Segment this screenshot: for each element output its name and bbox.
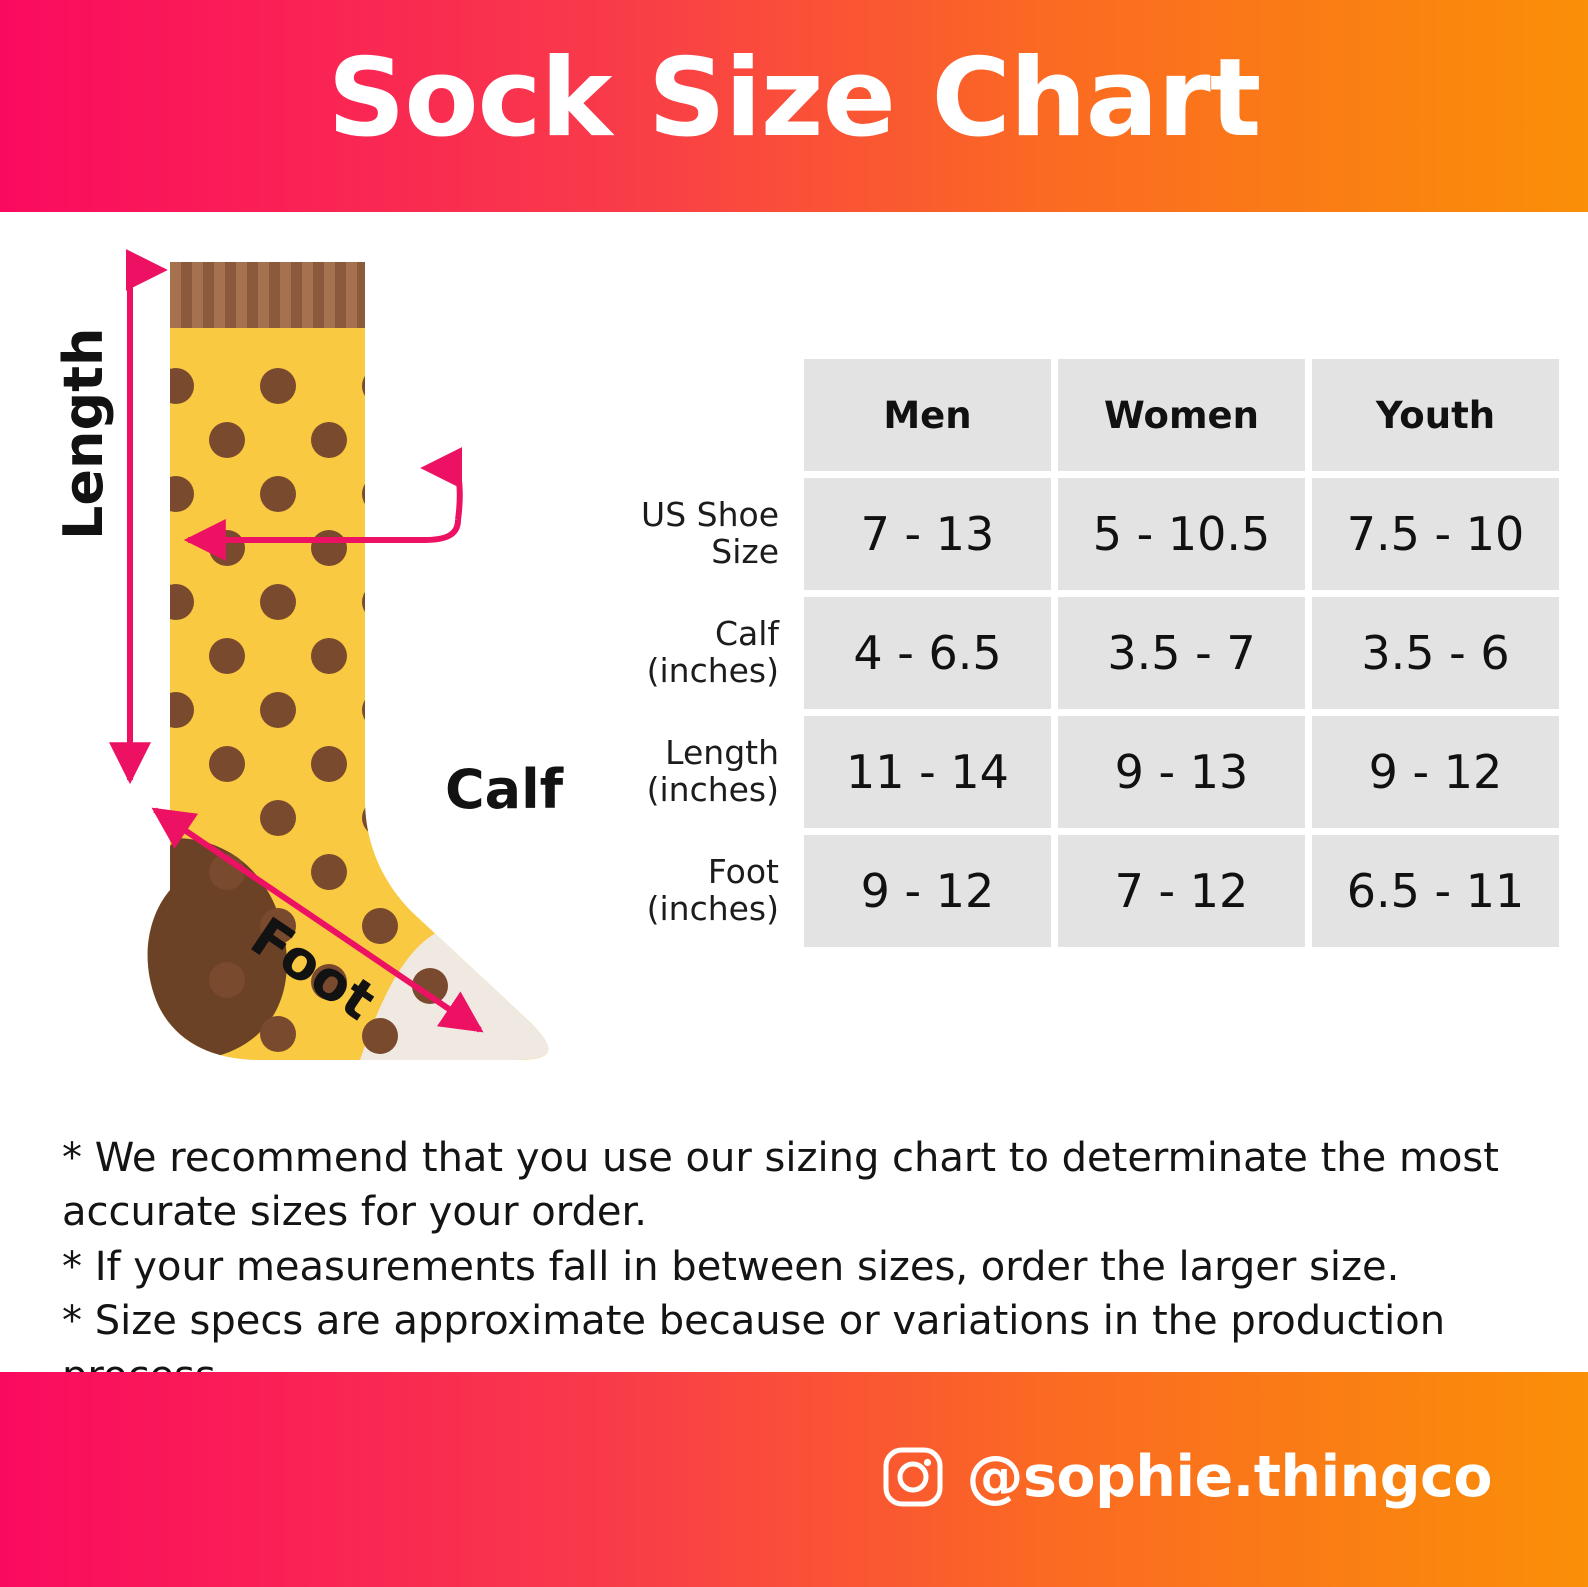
sock-diagram: Length Calf Foot — [60, 240, 620, 1060]
cell-foot-women: 7 - 12 — [1058, 835, 1305, 947]
column-header-youth: Youth — [1312, 359, 1559, 471]
table-corner-cell — [627, 359, 797, 471]
row-header-foot: Foot (inches) — [627, 835, 797, 947]
length-label: Length — [52, 328, 115, 540]
cell-calf-men: 4 - 6.5 — [804, 597, 1051, 709]
cell-calf-women: 3.5 - 7 — [1058, 597, 1305, 709]
sock-size-chart-page: Sock Size Chart — [0, 0, 1588, 1587]
row-header-line2: Size — [627, 534, 779, 571]
table-body: US Shoe Size 7 - 13 5 - 10.5 7.5 - 10 Ca… — [627, 478, 1559, 947]
page-title: Sock Size Chart — [0, 34, 1588, 164]
cell-us-shoe-size-youth: 7.5 - 10 — [1312, 478, 1559, 590]
cell-length-women: 9 - 13 — [1058, 716, 1305, 828]
table-row: US Shoe Size 7 - 13 5 - 10.5 7.5 - 10 — [627, 478, 1559, 590]
cell-foot-men: 9 - 12 — [804, 835, 1051, 947]
row-header-line2: (inches) — [627, 772, 779, 809]
row-header-line1: Calf — [627, 616, 779, 653]
footnotes-block: * We recommend that you use our sizing c… — [62, 1131, 1522, 1403]
cell-length-youth: 9 - 12 — [1312, 716, 1559, 828]
calf-arrow-curve — [458, 468, 460, 520]
table-row: Foot (inches) 9 - 12 7 - 12 6.5 - 11 — [627, 835, 1559, 947]
cell-length-men: 11 - 14 — [804, 716, 1051, 828]
table-header: Men Women Youth — [627, 359, 1559, 471]
cell-calf-youth: 3.5 - 6 — [1312, 597, 1559, 709]
instagram-icon — [882, 1446, 944, 1508]
row-header-calf: Calf (inches) — [627, 597, 797, 709]
row-header-us-shoe-size: US Shoe Size — [627, 478, 797, 590]
footnote-1: * We recommend that you use our sizing c… — [62, 1131, 1522, 1240]
row-header-line2: (inches) — [627, 653, 779, 690]
column-header-women: Women — [1058, 359, 1305, 471]
size-table: Men Women Youth US Shoe Size 7 - 13 5 - … — [620, 352, 1552, 954]
row-header-line1: Length — [627, 735, 779, 772]
sock-cuff — [170, 262, 365, 328]
size-table-element: Men Women Youth US Shoe Size 7 - 13 5 - … — [620, 352, 1566, 954]
row-header-line1: US Shoe — [627, 497, 779, 534]
cell-foot-youth: 6.5 - 11 — [1312, 835, 1559, 947]
instagram-handle[interactable]: @sophie.thingco — [966, 1444, 1492, 1510]
table-row: Calf (inches) 4 - 6.5 3.5 - 7 3.5 - 6 — [627, 597, 1559, 709]
row-header-line1: Foot — [627, 854, 779, 891]
instagram-block[interactable]: @sophie.thingco — [882, 1444, 1492, 1510]
column-header-men: Men — [804, 359, 1051, 471]
footnote-2: * If your measurements fall in between s… — [62, 1240, 1522, 1294]
calf-label: Calf — [445, 758, 563, 821]
cell-us-shoe-size-women: 5 - 10.5 — [1058, 478, 1305, 590]
table-row: Length (inches) 11 - 14 9 - 13 9 - 12 — [627, 716, 1559, 828]
row-header-length: Length (inches) — [627, 716, 797, 828]
cell-us-shoe-size-men: 7 - 13 — [804, 478, 1051, 590]
table-header-row: Men Women Youth — [627, 359, 1559, 471]
row-header-line2: (inches) — [627, 891, 779, 928]
